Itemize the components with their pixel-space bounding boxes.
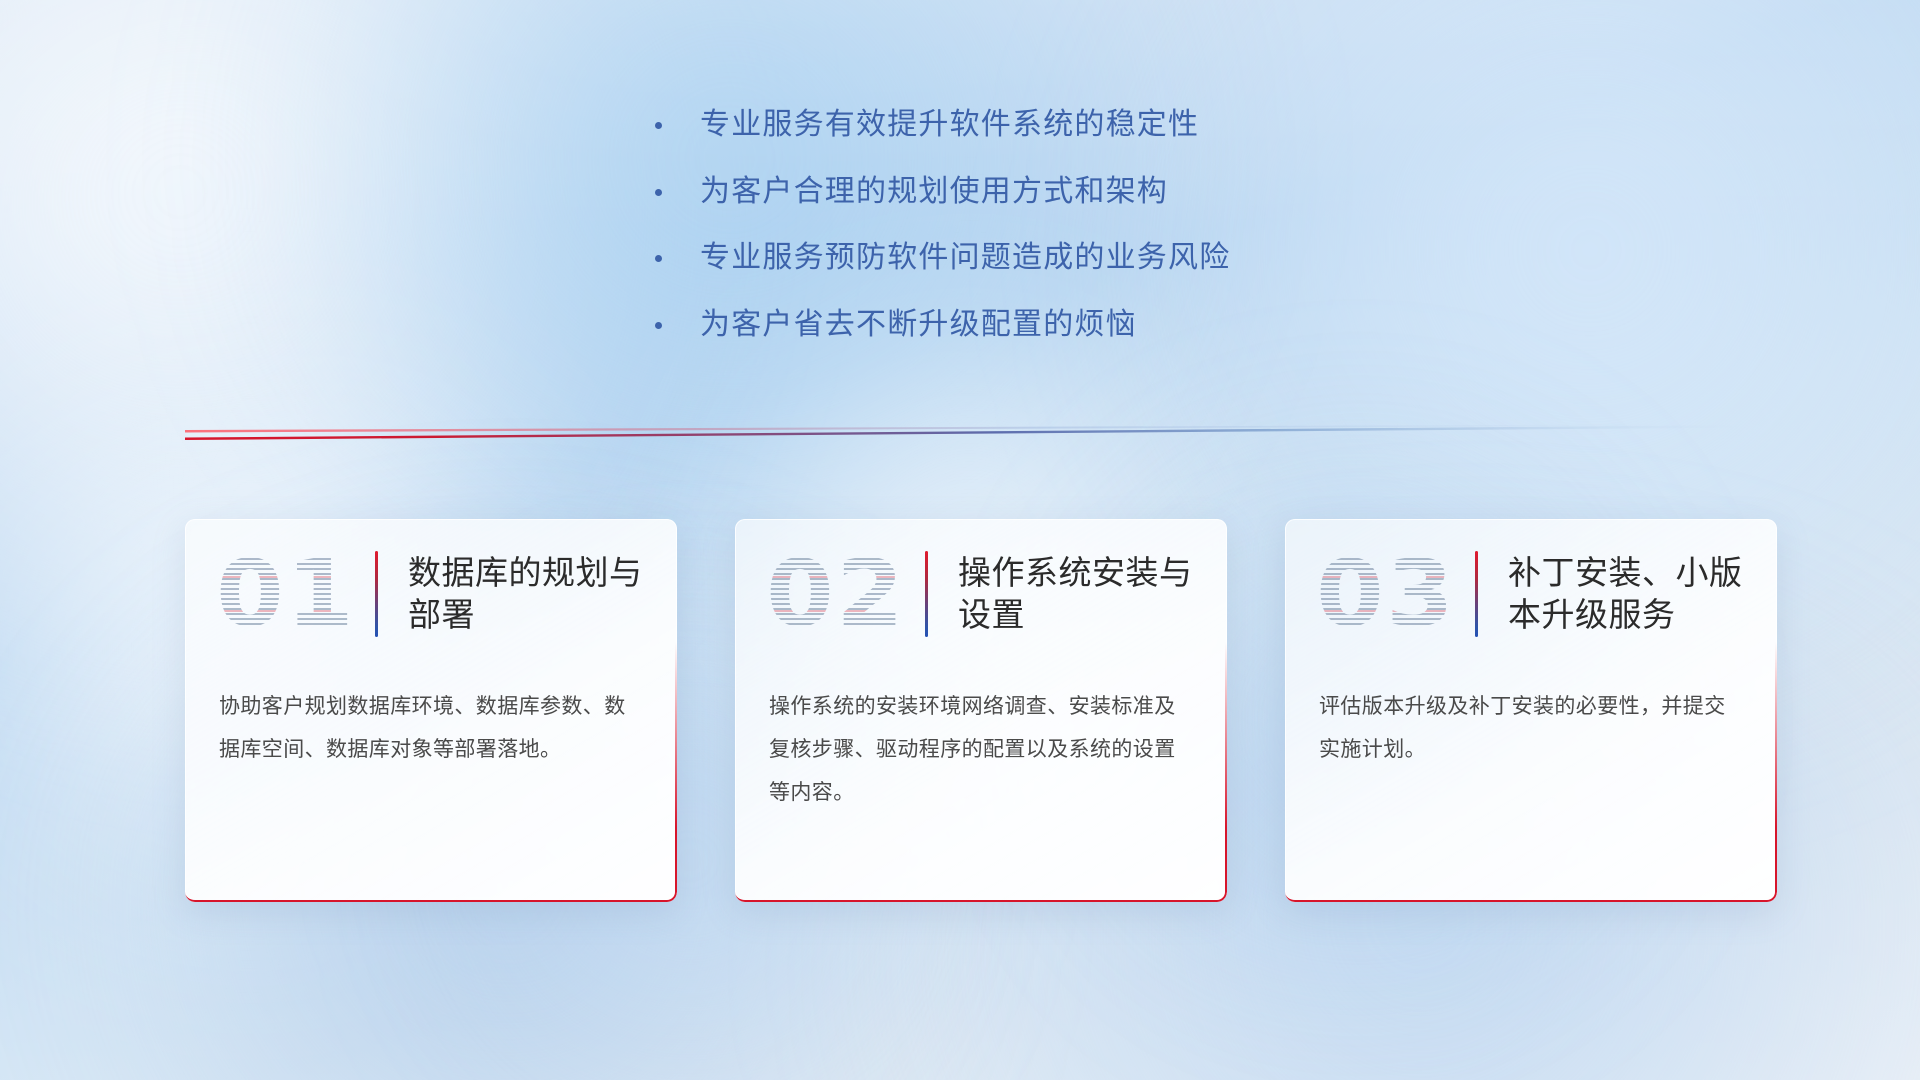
card-number-decoration: 01 01	[213, 542, 359, 646]
bullet-text: 为客户合理的规划使用方式和架构	[700, 175, 1168, 210]
bullet-dot-icon	[655, 122, 662, 129]
card-header: 03 03 补丁安装、小版本升级服务	[1285, 519, 1777, 669]
benefits-bullet-list: 专业服务有效提升软件系统的稳定性 为客户合理的规划使用方式和架构 专业服务预防软…	[655, 108, 1555, 342]
bullet-item: 专业服务预防软件问题造成的业务风险	[655, 241, 1555, 276]
card-body-text: 协助客户规划数据库环境、数据库参数、数据库空间、数据库对象等部署落地。	[185, 685, 677, 771]
card-accent-rule	[925, 551, 928, 637]
card-number-decoration: 03 03	[1313, 542, 1459, 646]
card-title: 数据库的规划与部署	[408, 552, 670, 636]
card-number-text: 03	[1316, 548, 1456, 640]
service-card[interactable]: 02 02 操作系统安装与设置 操作系统的安装环境网络调查、安装标准及复核步骤、…	[735, 519, 1227, 902]
bullet-item: 为客户合理的规划使用方式和架构	[655, 175, 1555, 210]
service-card[interactable]: 03 03 补丁安装、小版本升级服务 评估版本升级及补丁安装的必要性，并提交实施…	[1285, 519, 1777, 902]
section-divider	[185, 424, 1745, 440]
card-body-text: 评估版本升级及补丁安装的必要性，并提交实施计划。	[1285, 685, 1777, 771]
card-number-decoration: 02 02	[763, 542, 909, 646]
bullet-text: 为客户省去不断升级配置的烦恼	[700, 308, 1137, 343]
service-card[interactable]: 01 01 数据库的规划与部署 协助客户规划数据库环境、数据库参数、数据库空间、…	[185, 519, 677, 902]
bullet-text: 专业服务预防软件问题造成的业务风险	[700, 241, 1230, 276]
card-accent-rule	[375, 551, 378, 637]
bullet-dot-icon	[655, 255, 662, 262]
card-title: 补丁安装、小版本升级服务	[1508, 552, 1770, 636]
card-body-text: 操作系统的安装环境网络调查、安装标准及复核步骤、驱动程序的配置以及系统的设置等内…	[735, 685, 1227, 814]
card-header: 02 02 操作系统安装与设置	[735, 519, 1227, 669]
divider-shape-icon	[185, 424, 1745, 440]
bullet-dot-icon	[655, 322, 662, 329]
bullet-dot-icon	[655, 189, 662, 196]
card-title: 操作系统安装与设置	[958, 552, 1220, 636]
bullet-item: 为客户省去不断升级配置的烦恼	[655, 308, 1555, 343]
card-number-text: 01	[216, 548, 356, 640]
bullet-item: 专业服务有效提升软件系统的稳定性	[655, 108, 1555, 143]
card-accent-rule	[1475, 551, 1478, 637]
card-number-text: 02	[766, 548, 906, 640]
service-cards: 01 01 数据库的规划与部署 协助客户规划数据库环境、数据库参数、数据库空间、…	[185, 519, 1777, 902]
bullet-text: 专业服务有效提升软件系统的稳定性	[700, 108, 1199, 143]
card-header: 01 01 数据库的规划与部署	[185, 519, 677, 669]
